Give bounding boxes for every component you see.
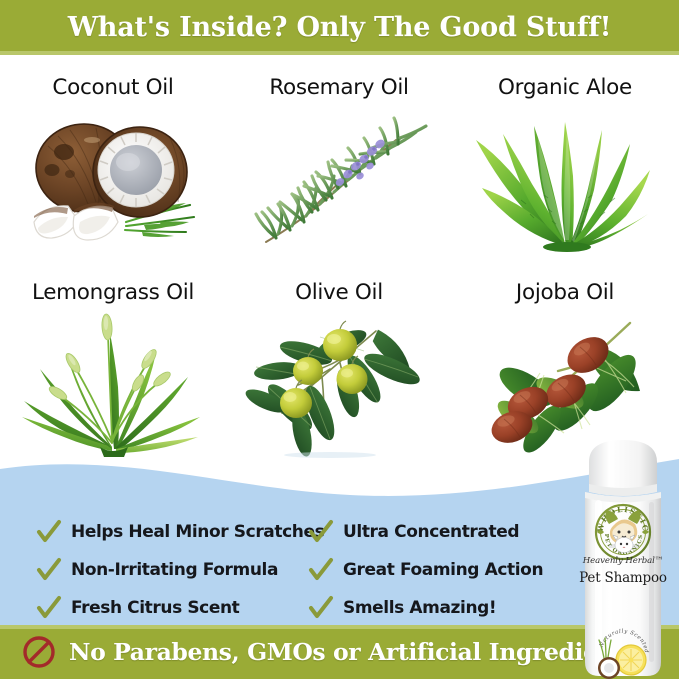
ingredient-cell-coconut: Coconut Oil bbox=[0, 55, 226, 260]
aloe-vera-illustration bbox=[470, 104, 660, 254]
ingredient-cell-olive: Olive Oil bbox=[226, 260, 452, 465]
footer-claim: No Parabens, GMOs or Artificial Ingredie… bbox=[69, 638, 638, 666]
ingredient-cell-lemongrass: Lemongrass Oil bbox=[0, 260, 226, 465]
benefits-column-right: Ultra Concentrated Great Foaming Action … bbox=[300, 513, 560, 625]
header-bar: What's Inside? Only The Good Stuff! bbox=[0, 0, 679, 55]
ingredient-grid: Coconut Oil bbox=[0, 55, 679, 465]
checkmark-icon bbox=[308, 519, 334, 545]
page-title: What's Inside? Only The Good Stuff! bbox=[68, 12, 612, 43]
ingredient-label: Coconut Oil bbox=[52, 75, 173, 100]
checkmark-icon bbox=[36, 557, 62, 583]
benefit-label: Ultra Concentrated bbox=[343, 522, 519, 542]
rosemary-sprig-illustration bbox=[244, 104, 434, 254]
benefit-label: Non-Irritating Formula bbox=[71, 560, 278, 580]
benefit-item: Helps Heal Minor Scratches bbox=[36, 515, 300, 549]
coconut-illustration bbox=[18, 104, 208, 254]
infographic-page: What's Inside? Only The Good Stuff! Coco… bbox=[0, 0, 679, 679]
checkmark-icon bbox=[308, 557, 334, 583]
ingredient-cell-aloe: Organic Aloe bbox=[452, 55, 678, 260]
checkmark-icon bbox=[36, 519, 62, 545]
ingredient-label: Jojoba Oil bbox=[516, 280, 614, 305]
ingredient-label: Olive Oil bbox=[295, 280, 383, 305]
benefit-item: Ultra Concentrated bbox=[308, 515, 560, 549]
ingredient-label: Organic Aloe bbox=[498, 75, 632, 100]
benefit-label: Fresh Citrus Scent bbox=[71, 598, 239, 618]
benefit-item: Great Foaming Action bbox=[308, 553, 560, 587]
benefit-label: Great Foaming Action bbox=[343, 560, 543, 580]
benefit-item: Fresh Citrus Scent bbox=[36, 591, 300, 625]
checkmark-icon bbox=[308, 595, 334, 621]
benefit-label: Helps Heal Minor Scratches bbox=[71, 522, 324, 542]
prohibition-icon bbox=[22, 635, 56, 669]
benefits-column-left: Helps Heal Minor Scratches Non-Irritatin… bbox=[0, 513, 300, 625]
ingredient-label: Lemongrass Oil bbox=[32, 280, 194, 305]
product-bottle: WHOLISTIC PET ORGANICS bbox=[571, 428, 675, 679]
benefit-item: Non-Irritating Formula bbox=[36, 553, 300, 587]
benefit-item: Smells Amazing! bbox=[308, 591, 560, 625]
benefit-label: Smells Amazing! bbox=[343, 598, 496, 618]
ingredient-cell-rosemary: Rosemary Oil bbox=[226, 55, 452, 260]
benefits-list: Helps Heal Minor Scratches Non-Irritatin… bbox=[0, 513, 560, 625]
lemongrass-illustration bbox=[18, 309, 208, 459]
checkmark-icon bbox=[36, 595, 62, 621]
olive-branch-illustration bbox=[244, 309, 434, 459]
ingredient-label: Rosemary Oil bbox=[269, 75, 408, 100]
